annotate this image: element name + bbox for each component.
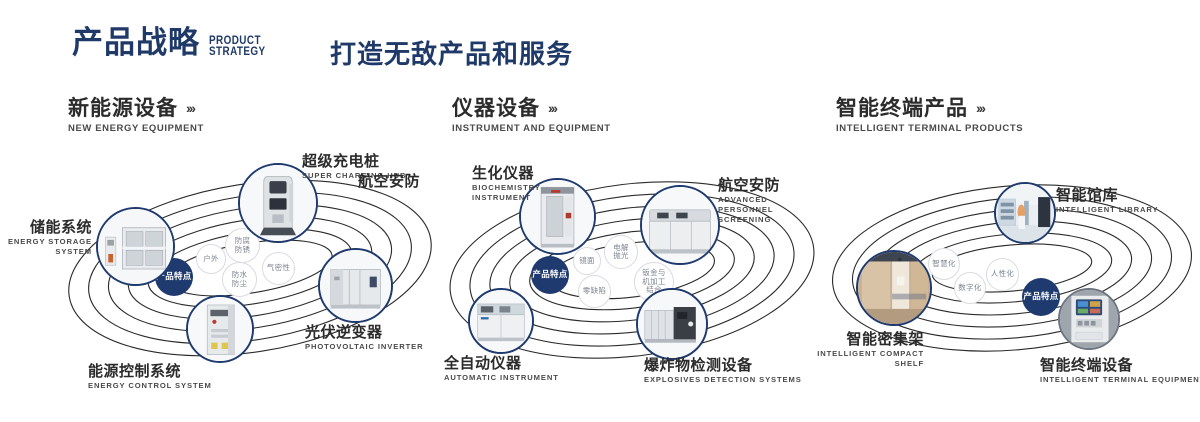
caption-en: PHOTOVOLTAIC INVERTER <box>305 342 423 352</box>
caption-automatic-instrument: 全自动仪器 AUTOMATIC INSTRUMENT <box>444 354 559 383</box>
core-bubble-label: 产品特点 <box>532 270 567 280</box>
section-heading-cn: 新能源设备››› <box>68 96 204 120</box>
chevron-right-icon: ››› <box>976 100 984 116</box>
product-node-explosives-detection[interactable] <box>636 288 708 360</box>
feature-bubble-label: 户外 <box>203 255 219 264</box>
product-node-automatic-instrument[interactable] <box>468 288 534 354</box>
automatic-instrument-photo <box>470 290 532 352</box>
energy-storage-photo <box>98 209 173 284</box>
caption-biochemistry-instrument: 生化仪器 BIOCHEMISTRYINSTRUMENT <box>472 164 552 203</box>
caption-en: ENERGY STORAGESYSTEM <box>0 237 92 257</box>
caption-advanced-personnel-screening: 航空安防 ADVANCED PERSONNELSCREENING <box>718 176 814 225</box>
feature-bubble-electropolishing: 电解抛光 <box>604 235 638 269</box>
feature-bubble-outdoor: 户外 <box>196 244 226 274</box>
chevron-right-icon: ››› <box>548 100 556 116</box>
caption-en: ENERGY CONTROL SYSTEM <box>88 381 212 391</box>
section-heading-cn-text: 新能源设备 <box>68 96 178 120</box>
feature-bubble-smart: 智慧化 <box>928 248 960 280</box>
caption-cn: 智能密集架 <box>784 330 924 348</box>
caption-en: INTELLIGENT LIBRARY <box>1056 205 1158 215</box>
section-heading-new-energy: 新能源设备››› NEW ENERGY EQUIPMENT <box>68 96 204 134</box>
core-bubble-intelligent-terminal: 产品特点 <box>1022 278 1060 316</box>
feature-bubble-label: 人性化 <box>991 270 1014 279</box>
feature-bubble-label: 智慧化 <box>932 260 955 269</box>
section-heading-cn-text: 智能终端产品 <box>836 96 968 120</box>
caption-cn: 能源控制系统 <box>88 362 212 380</box>
feature-bubble-label: 气密性 <box>267 264 291 273</box>
feature-bubble-zero-defect: 零缺陷 <box>578 275 611 308</box>
product-strategy-infographic: 产品战略 PRODUCT STRATEGY 打造无敌产品和服务 新能源设备›››… <box>0 0 1200 422</box>
section-heading-cn: 仪器设备››› <box>452 96 611 120</box>
explosives-detection-photo <box>638 290 706 358</box>
product-node-energy-storage[interactable] <box>96 207 175 286</box>
feature-bubble-waterproof: 防水防尘 <box>222 262 257 297</box>
product-node-intelligent-library[interactable] <box>994 182 1056 244</box>
core-bubble-label: 产品特点 <box>1023 292 1058 302</box>
caption-en: ADVANCED PERSONNELSCREENING <box>718 195 814 225</box>
caption-photovoltaic-inverter: 光伏逆变器 PHOTOVOLTAIC INVERTER <box>305 323 423 352</box>
product-node-intelligent-compact-shelf[interactable] <box>856 250 932 326</box>
core-bubble-instrument: 产品特点 <box>531 256 569 294</box>
caption-en: INTELLIGENT COMPACTSHELF <box>784 349 924 369</box>
chevron-right-icon: ››› <box>186 100 194 116</box>
advanced-personnel-screening-photo <box>642 187 718 263</box>
caption-cn: 航空安防 <box>718 176 814 194</box>
photovoltaic-inverter-photo <box>320 250 391 321</box>
caption-cn: 航空安防 <box>358 172 418 190</box>
page-title-english-line2: STRATEGY <box>209 47 266 58</box>
section-heading-instrument: 仪器设备››› INSTRUMENT AND EQUIPMENT <box>452 96 611 134</box>
caption-aviation-security-left: 航空安防 <box>358 172 418 190</box>
caption-energy-control-system: 能源控制系统 ENERGY CONTROL SYSTEM <box>88 362 212 391</box>
caption-cn: 爆炸物检测设备 <box>644 356 802 374</box>
section-heading-cn-text: 仪器设备 <box>452 96 540 120</box>
feature-bubble-label: 电解抛光 <box>610 244 632 261</box>
feature-bubble-label: 防水防尘 <box>229 271 251 288</box>
product-node-energy-control-system[interactable] <box>186 295 254 363</box>
section-heading-intelligent-terminal: 智能终端产品››› INTELLIGENT TERMINAL PRODUCTS <box>836 96 1023 134</box>
feature-bubble-label: 数字化 <box>958 284 981 293</box>
caption-cn: 光伏逆变器 <box>305 323 423 341</box>
section-heading-en: NEW ENERGY EQUIPMENT <box>68 123 204 134</box>
feature-bubble-digital: 数字化 <box>954 272 986 304</box>
caption-cn: 智能馆库 <box>1056 186 1158 204</box>
caption-en: EXPLOSIVES DETECTION SYSTEMS <box>644 375 802 385</box>
caption-explosives-detection: 爆炸物检测设备 EXPLOSIVES DETECTION SYSTEMS <box>644 356 802 385</box>
feature-bubble-airtight: 气密性 <box>262 252 295 285</box>
section-heading-en: INSTRUMENT AND EQUIPMENT <box>452 123 611 134</box>
caption-cn: 生化仪器 <box>472 164 552 182</box>
feature-bubble-humanized: 人性化 <box>986 258 1019 291</box>
caption-cn: 储能系统 <box>0 218 92 236</box>
intelligent-compact-shelf-photo <box>858 252 930 324</box>
section-heading-en: INTELLIGENT TERMINAL PRODUCTS <box>836 123 1023 134</box>
caption-intelligent-terminal-equipment: 智能终端设备 INTELLIGENT TERMINAL EQUIPMENT <box>1040 356 1200 385</box>
page-subtitle: 打造无敌产品和服务 <box>330 34 573 71</box>
caption-en: INTELLIGENT TERMINAL EQUIPMENT <box>1040 375 1200 385</box>
caption-energy-storage: 储能系统 ENERGY STORAGESYSTEM <box>0 218 92 257</box>
section-heading-cn: 智能终端产品››› <box>836 96 1023 120</box>
caption-cn: 智能终端设备 <box>1040 356 1200 374</box>
page-title-english: PRODUCT STRATEGY <box>209 36 266 58</box>
intelligent-terminal-equipment-photo <box>1060 290 1118 348</box>
product-node-advanced-personnel-screening[interactable] <box>640 185 720 265</box>
product-node-intelligent-terminal-equipment[interactable] <box>1058 288 1120 350</box>
page-title: 产品战略 <box>72 28 200 59</box>
caption-cn: 全自动仪器 <box>444 354 559 372</box>
caption-en: AUTOMATIC INSTRUMENT <box>444 373 559 383</box>
caption-cn: 超级充电桩 <box>302 152 406 170</box>
page-header: 产品战略 PRODUCT STRATEGY <box>72 28 275 59</box>
product-node-photovoltaic-inverter[interactable] <box>318 248 393 323</box>
feature-bubble-label: 镜面 <box>579 257 595 266</box>
energy-control-system-photo <box>188 297 252 361</box>
caption-en: BIOCHEMISTRYINSTRUMENT <box>472 183 552 203</box>
caption-intelligent-compact-shelf: 智能密集架 INTELLIGENT COMPACTSHELF <box>784 330 924 369</box>
feature-bubble-mirror: 镜面 <box>573 247 601 275</box>
feature-bubble-label: 防腐防锈 <box>232 237 254 254</box>
feature-bubble-label: 零缺陷 <box>582 287 608 296</box>
caption-intelligent-library: 智能馆库 INTELLIGENT LIBRARY <box>1056 186 1158 215</box>
intelligent-library-photo <box>996 184 1054 242</box>
